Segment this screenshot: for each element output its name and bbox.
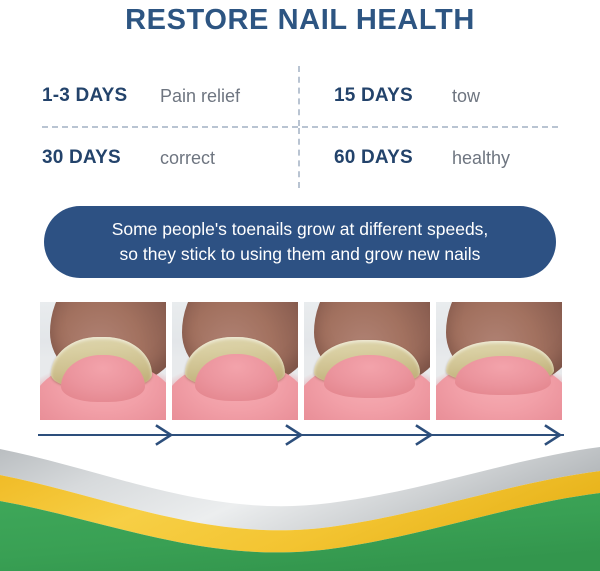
timeline-term: 15 DAYS [334,85,442,107]
timeline-cell-30-days: 30 DAYS correct [42,128,300,188]
callout-line-1: Some people's toenails grow at different… [112,217,489,242]
after-photo-stage-4 [436,302,562,420]
timeline-cell-60-days: 60 DAYS healthy [300,128,558,188]
timeline-term: 1-3 DAYS [42,85,150,107]
timeline-description: healthy [452,148,510,169]
timeline-cell-1-3-days: 1-3 DAYS Pain relief [42,66,300,126]
progress-photo-stage-2 [172,302,298,420]
timeline-description: correct [160,148,215,169]
timeline-description: Pain relief [160,86,240,107]
timeline-description: tow [452,86,480,107]
callout-line-2: so they stick to using them and grow new… [120,242,481,267]
photo-strip [40,302,562,420]
callout-banner: Some people's toenails grow at different… [44,206,556,278]
timeline-term: 30 DAYS [42,147,150,169]
page-title: RESTORE NAIL HEALTH [0,4,600,37]
nail-notch-shape [455,356,551,395]
progress-photo-stage-3 [304,302,430,420]
before-photo-stage-1 [40,302,166,420]
timeline-table: 1-3 DAYS Pain relief 15 DAYS tow 30 DAYS… [42,66,558,186]
table-row: 30 DAYS correct 60 DAYS healthy [42,128,558,188]
bottom-wave-decoration [0,441,600,571]
timeline-term: 60 DAYS [334,147,442,169]
table-row: 1-3 DAYS Pain relief 15 DAYS tow [42,66,558,128]
timeline-cell-15-days: 15 DAYS tow [300,66,558,126]
